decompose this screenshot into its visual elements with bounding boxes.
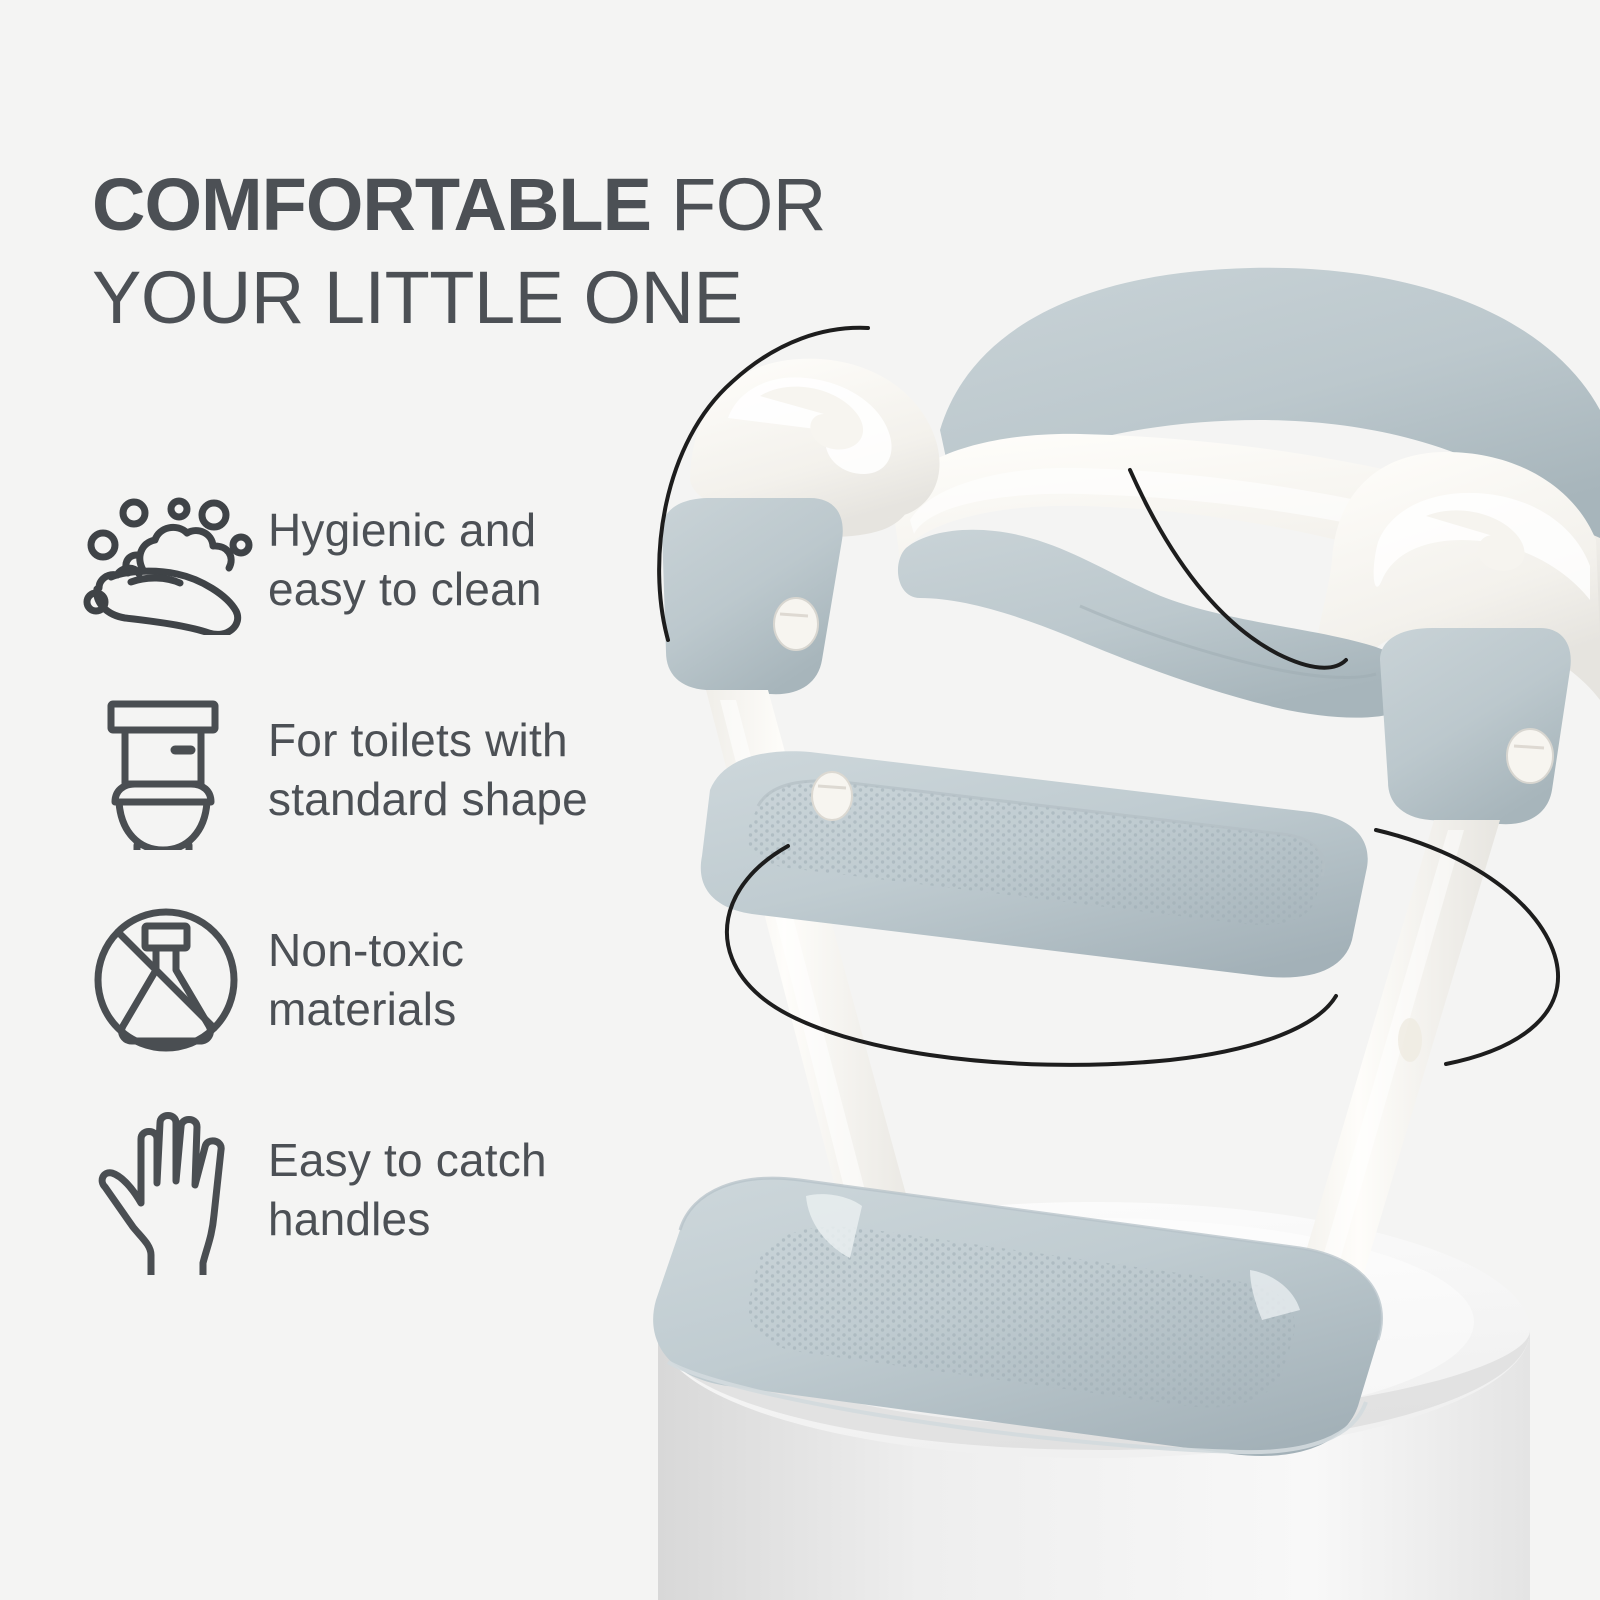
list-item-label: Non-toxic materials xyxy=(268,921,464,1039)
headline-emphasis: COMFORTABLE xyxy=(92,163,651,246)
feature-line-1: Hygienic and xyxy=(268,501,542,560)
feature-line-1: Easy to catch xyxy=(268,1131,547,1190)
product-infographic: COMFORTABLE FOR YOUR LITTLE ONE xyxy=(0,0,1600,1600)
pivot-knob-right xyxy=(1380,628,1571,824)
list-item-label: Easy to catch handles xyxy=(268,1131,547,1249)
toilet-icon xyxy=(78,690,268,850)
feature-line-2: standard shape xyxy=(268,770,588,829)
feature-line-1: For toilets with xyxy=(268,711,588,770)
no-toxic-flask-icon xyxy=(78,900,268,1060)
feature-line-1: Non-toxic xyxy=(268,921,464,980)
feature-line-2: handles xyxy=(268,1190,547,1249)
pivot-knob-left xyxy=(662,498,843,694)
list-item-label: Hygienic and easy to clean xyxy=(268,501,542,619)
feature-line-2: materials xyxy=(268,980,464,1039)
product-image xyxy=(610,0,1600,1600)
feature-line-2: easy to clean xyxy=(268,560,542,619)
list-item-label: For toilets with standard shape xyxy=(268,711,588,829)
open-hand-icon xyxy=(78,1110,268,1270)
hand-washing-bubbles-icon xyxy=(78,480,268,640)
